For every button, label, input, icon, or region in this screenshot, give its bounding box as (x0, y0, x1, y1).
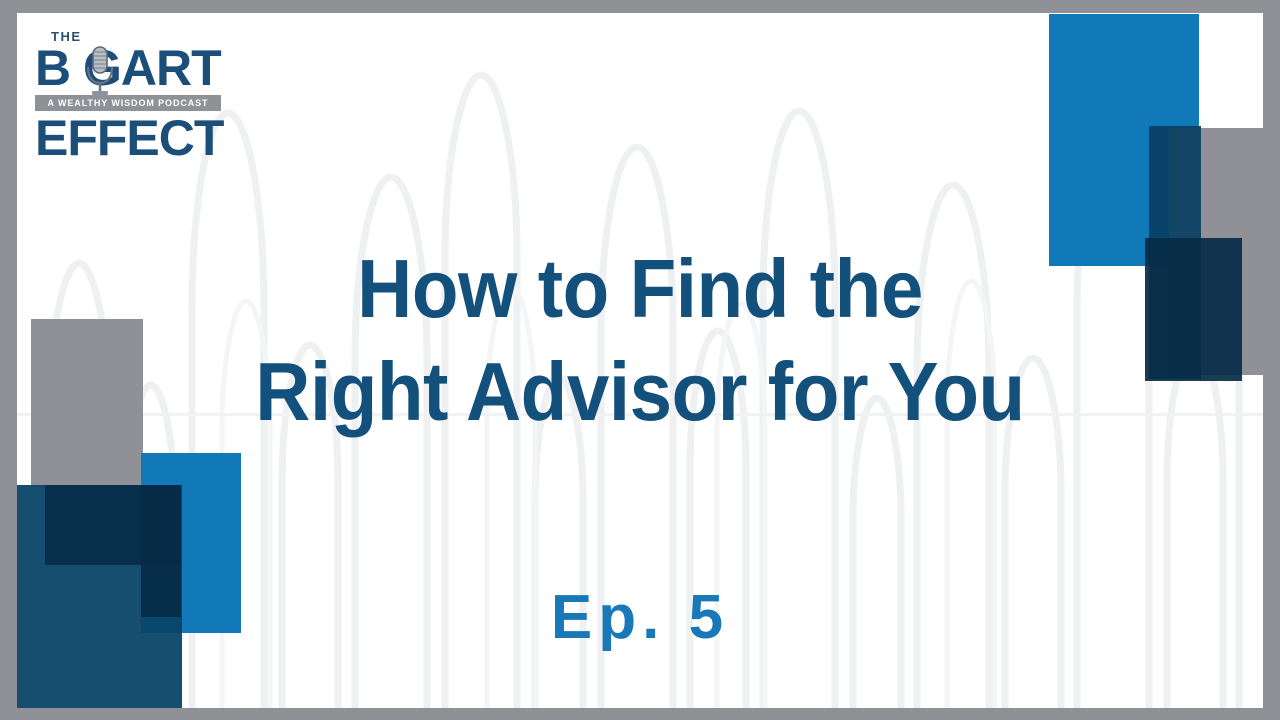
episode-title-line-1: How to Find the (67, 237, 1213, 340)
episode-cover-canvas: THE B GART A WEALTHY WISDOM PODCAST EFFE… (0, 0, 1280, 720)
episode-number-label: Ep. 5 (17, 582, 1263, 654)
cover-stage: THE B GART A WEALTHY WISDOM PODCAST EFFE… (17, 13, 1263, 708)
logo-effect-text: EFFECT (35, 113, 223, 163)
microphone-icon (82, 45, 118, 97)
logo-tagline: A WEALTHY WISDOM PODCAST (35, 95, 221, 111)
logo-bogart-text: B GART (35, 43, 221, 93)
episode-title-line-2: Right Advisor for You (67, 340, 1213, 443)
podcast-logo[interactable]: THE B GART A WEALTHY WISDOM PODCAST EFFE… (35, 29, 221, 169)
episode-title: How to Find the Right Advisor for You (67, 237, 1213, 443)
